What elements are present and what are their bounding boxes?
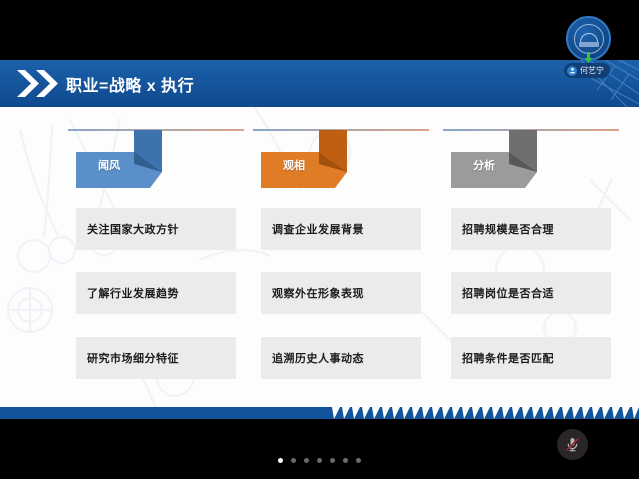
ribbon-banner	[261, 130, 379, 190]
list-item-text: 招聘规模是否合理	[451, 221, 554, 237]
content-columns: 闻风 关注国家大政方针 了解行业发展趋势 研究市场细分特征	[0, 107, 639, 419]
list-item[interactable]: 了解行业发展趋势	[76, 272, 236, 314]
pagination-dot[interactable]	[278, 458, 283, 463]
list-item-text: 研究市场细分特征	[76, 350, 179, 366]
list-item[interactable]: 调查企业发展背景	[261, 208, 421, 250]
list-item[interactable]: 观察外在形象表现	[261, 272, 421, 314]
pagination-dot[interactable]	[343, 458, 348, 463]
double-chevron-right-icon	[16, 69, 62, 98]
ribbon-banner	[451, 130, 569, 190]
pagination-dot[interactable]	[304, 458, 309, 463]
ribbon-label: 闻风	[98, 157, 120, 173]
pagination-dot[interactable]	[291, 458, 296, 463]
pagination-dot[interactable]	[317, 458, 322, 463]
list-item-text: 招聘岗位是否合适	[451, 285, 554, 301]
top-bar	[0, 0, 639, 60]
pagination-dot[interactable]	[330, 458, 335, 463]
list-item-text: 追溯历史人事动态	[261, 350, 364, 366]
list-item[interactable]: 研究市场细分特征	[76, 337, 236, 379]
list-item[interactable]: 关注国家大政方针	[76, 208, 236, 250]
slide-header: 职业=战略 x 执行	[0, 60, 639, 107]
ribbon-label: 观相	[283, 157, 305, 173]
user-chip: 何艺宁	[564, 63, 610, 78]
list-item[interactable]: 招聘岗位是否合适	[451, 272, 611, 314]
presentation-viewer: 职业=战略 x 执行 何艺宁	[0, 0, 639, 479]
footer-bar	[0, 419, 639, 479]
list-item-text: 观察外在形象表现	[261, 285, 364, 301]
list-item-text: 招聘条件是否匹配	[451, 350, 554, 366]
pagination-dot[interactable]	[356, 458, 361, 463]
list-item-text: 调查企业发展背景	[261, 221, 364, 237]
list-item[interactable]: 招聘规模是否合理	[451, 208, 611, 250]
list-item-text: 关注国家大政方针	[76, 221, 179, 237]
ribbon-banner	[76, 130, 194, 190]
list-item[interactable]: 追溯历史人事动态	[261, 337, 421, 379]
list-item-text: 了解行业发展趋势	[76, 285, 179, 301]
pagination-dots[interactable]	[0, 458, 639, 463]
list-item[interactable]: 招聘条件是否匹配	[451, 337, 611, 379]
microphone-muted-icon[interactable]	[557, 429, 588, 460]
bottom-decor-band	[0, 402, 639, 419]
person-icon	[567, 66, 577, 76]
page-title: 职业=战略 x 执行	[66, 72, 194, 96]
user-name-label: 何艺宁	[580, 65, 604, 76]
ribbon-label: 分析	[473, 157, 495, 173]
slide-canvas[interactable]: 职业=战略 x 执行 何艺宁	[0, 60, 639, 419]
